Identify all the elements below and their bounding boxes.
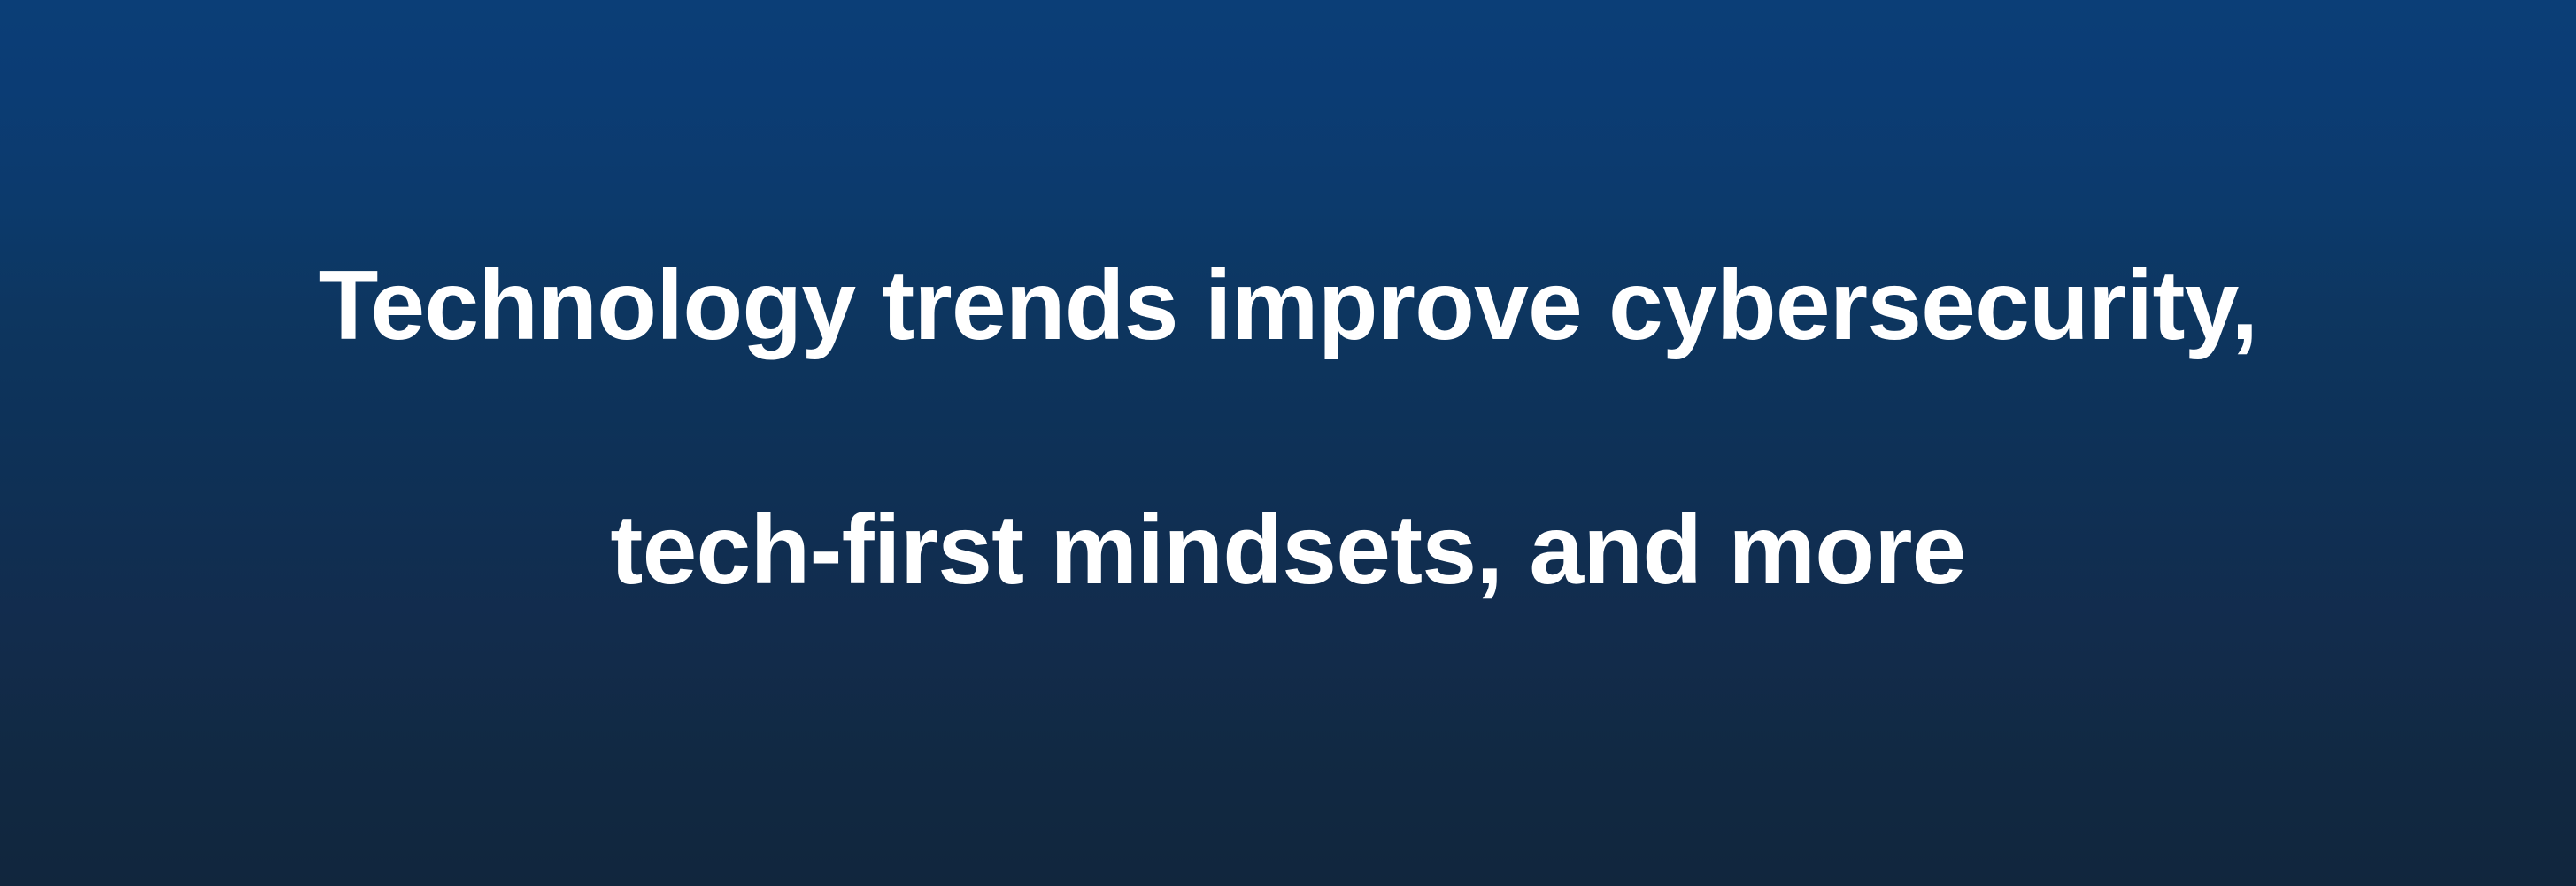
headline-line-2: tech-first mindsets, and more [248,489,2328,611]
headline-line-1: Technology trends improve cybersecurity, [248,244,2328,366]
page-title: Technology trends improve cybersecurity,… [248,122,2328,733]
hero-banner: Technology trends improve cybersecurity,… [0,0,2576,886]
hero-content-container: Technology trends improve cybersecurity,… [248,122,2328,733]
